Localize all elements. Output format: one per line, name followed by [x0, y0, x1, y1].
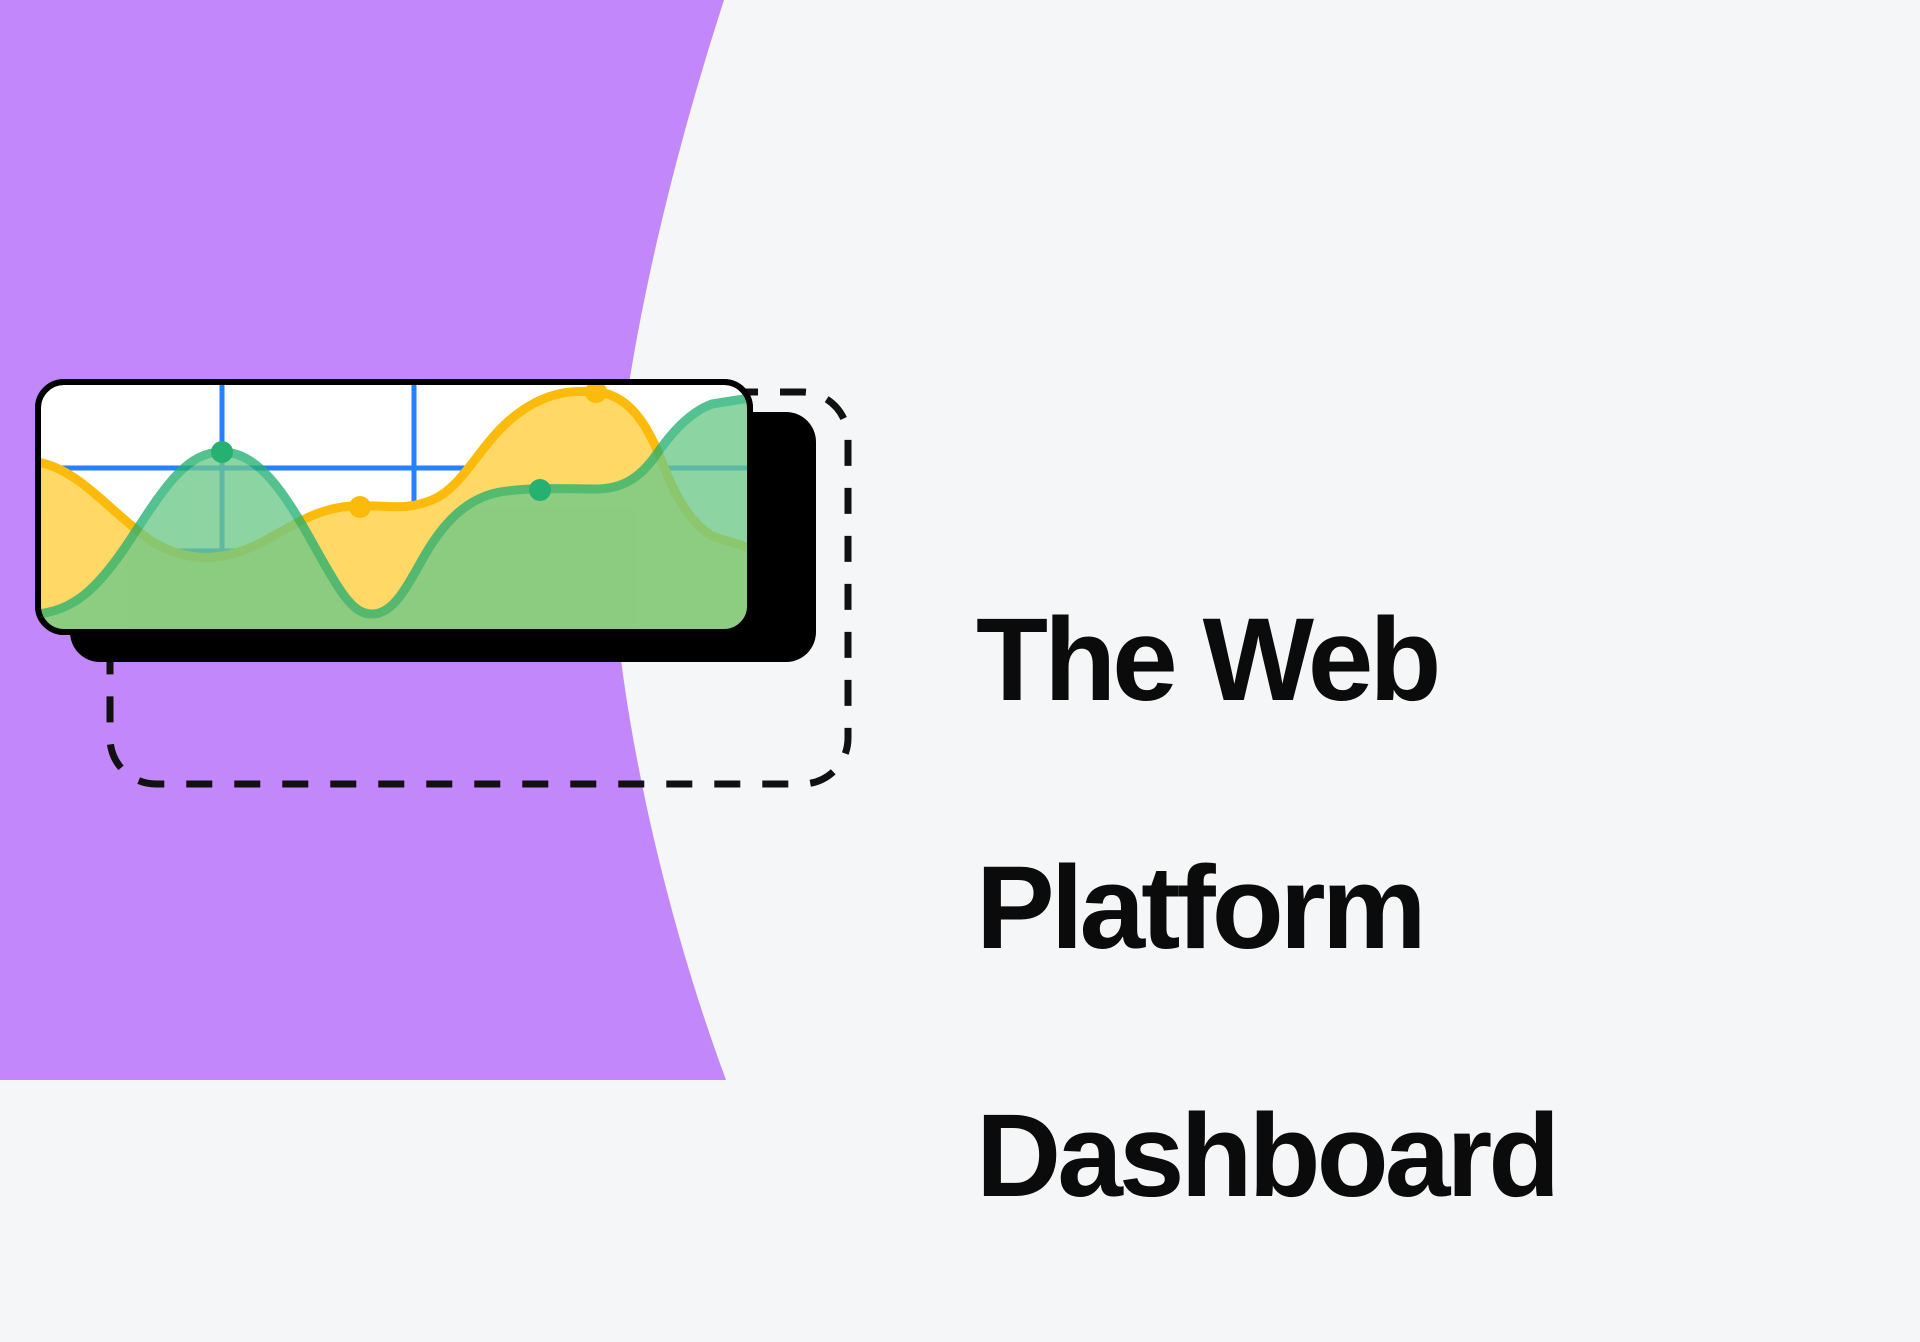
- chart-card: [38, 381, 750, 632]
- page-title: The Web Platform Dashboard: [976, 475, 1836, 1342]
- marker-green-2: [529, 479, 551, 501]
- page-title-line-2: Platform: [976, 847, 1836, 971]
- page-title-line-1: The Web: [976, 599, 1836, 723]
- hero-stage: The Web Platform Dashboard: [0, 0, 1920, 1080]
- marker-green-1: [211, 441, 233, 463]
- marker-yellow-1: [349, 496, 371, 518]
- page-title-line-3: Dashboard: [976, 1095, 1836, 1219]
